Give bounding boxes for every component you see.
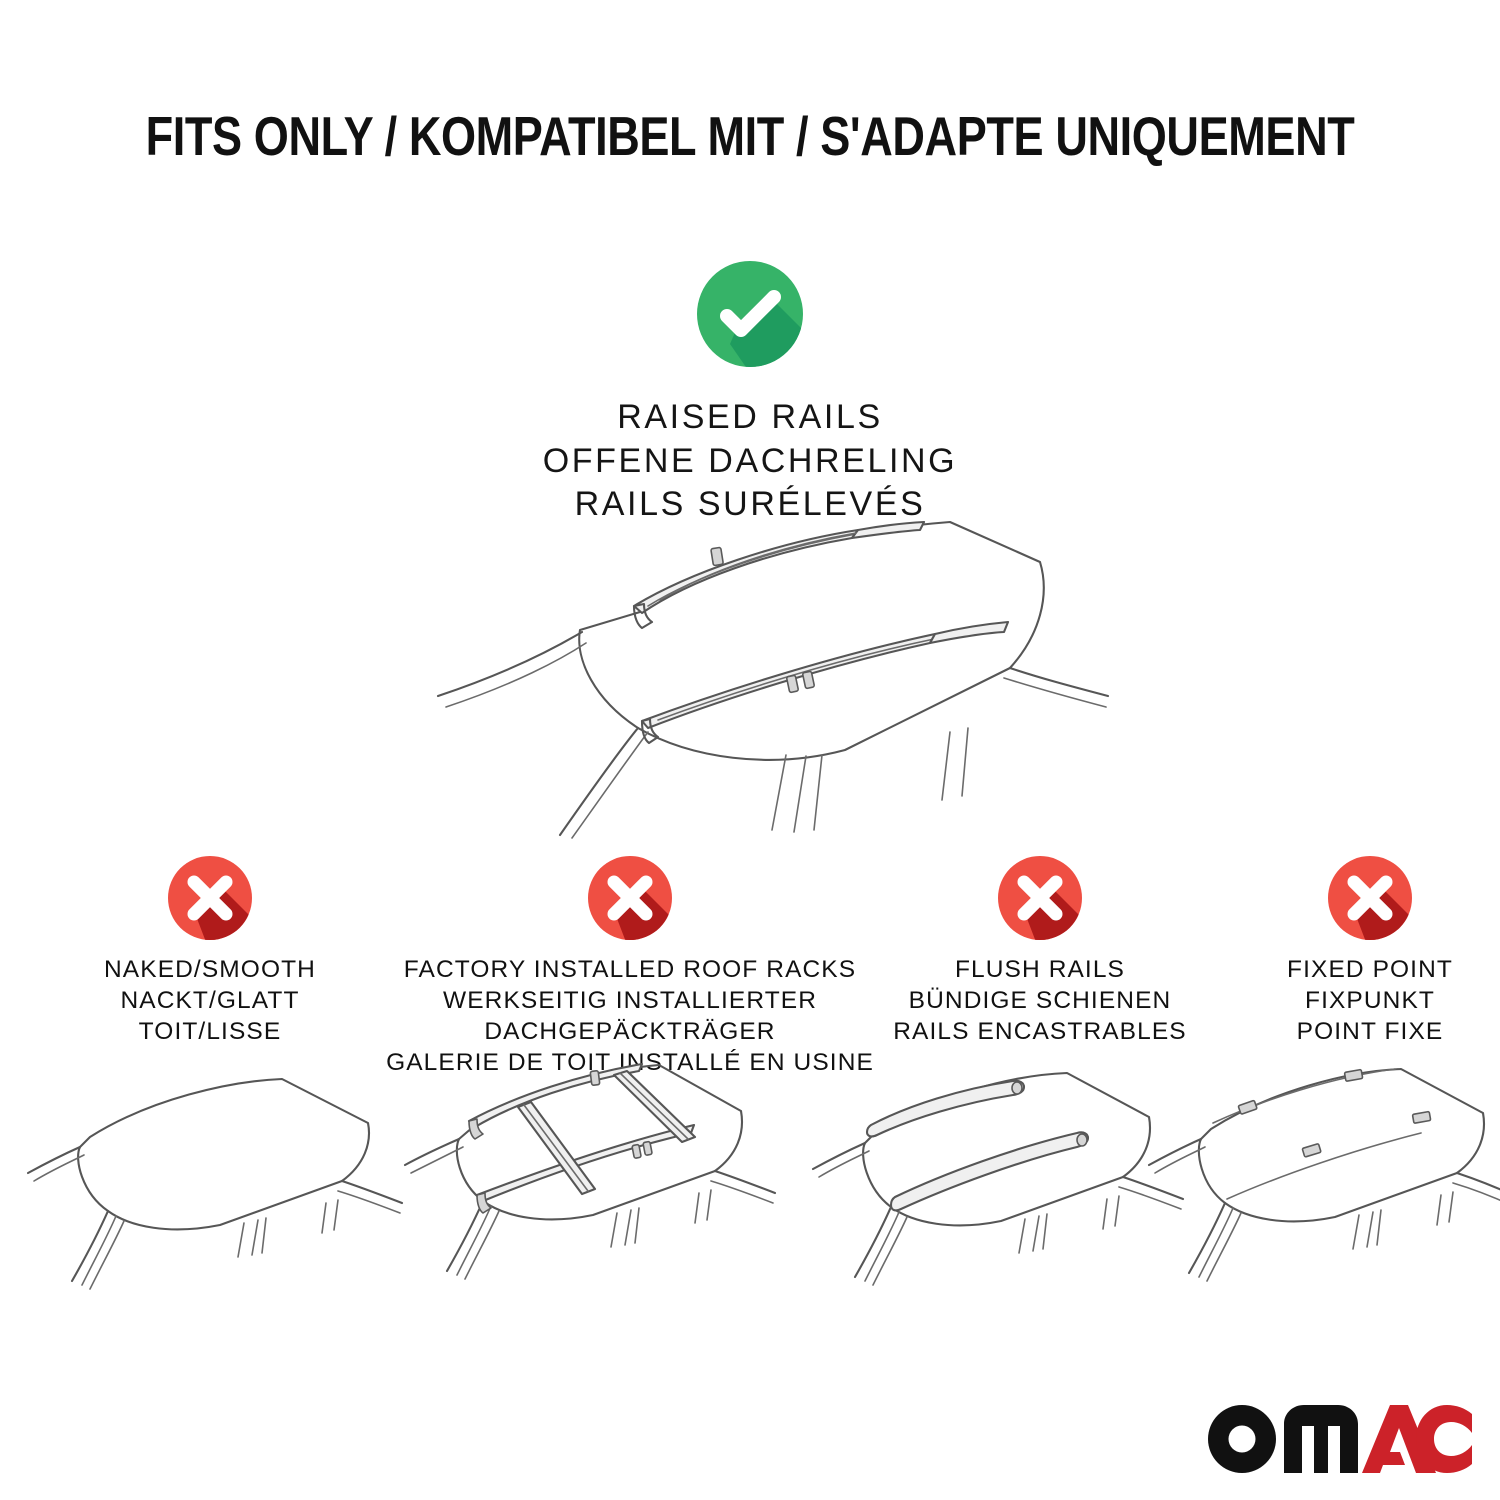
label-line-fr: POINT FIXE — [1287, 1016, 1453, 1047]
fitment-infographic: FITS ONLY / KOMPATIBEL MIT / S'ADAPTE UN… — [0, 0, 1500, 1500]
incompatible-column-factory-roof-racks: FACTORY INSTALLED ROOF RACKS WERKSEITIG … — [420, 854, 840, 1078]
incompatible-label-fixed-point: FIXED POINT FIXPUNKT POINT FIXE — [1287, 954, 1453, 1047]
label-line-en: FACTORY INSTALLED ROOF RACKS — [386, 954, 874, 985]
omac-logo — [1204, 1400, 1472, 1478]
incompatible-label-naked-smooth: NAKED/SMOOTH NACKT/GLATT TOIT/LISSE — [104, 954, 316, 1047]
label-line-de-1: WERKSEITIG INSTALLIERTER — [386, 985, 874, 1016]
incompatible-column-fixed-point: FIXED POINT FIXPUNKT POINT FIXE — [1240, 854, 1500, 1078]
compatible-block: RAISED RAILS OFFENE DACHRELING RAILS SUR… — [0, 258, 1500, 527]
compatible-label-line-de: OFFENE DACHRELING — [0, 440, 1500, 484]
label-line-en: FIXED POINT — [1287, 954, 1453, 985]
label-line-de-2: DACHGEPÄCKTRÄGER — [386, 1016, 874, 1047]
incompatible-label-flush-rails: FLUSH RAILS BÜNDIGE SCHIENEN RAILS ENCAS… — [893, 954, 1186, 1047]
label-line-en: NAKED/SMOOTH — [104, 954, 316, 985]
incompatible-column-naked-smooth: NAKED/SMOOTH NACKT/GLATT TOIT/LISSE — [0, 854, 420, 1078]
incompatible-columns: NAKED/SMOOTH NACKT/GLATT TOIT/LISSE FACT… — [0, 854, 1500, 1078]
compatible-label-line-en: RAISED RAILS — [0, 396, 1500, 440]
illustration-flush-rails — [805, 1055, 1195, 1320]
label-line-fr: RAILS ENCASTRABLES — [893, 1016, 1186, 1047]
label-line-de: NACKT/GLATT — [104, 985, 316, 1016]
x-circle-icon — [996, 854, 1084, 942]
illustration-raised-rails — [390, 500, 1110, 840]
x-circle-icon — [166, 854, 254, 942]
label-line-fr: TOIT/LISSE — [104, 1016, 316, 1047]
x-circle-icon — [586, 854, 674, 942]
illustration-fixed-point — [1145, 1055, 1500, 1320]
label-line-de: BÜNDIGE SCHIENEN — [893, 985, 1186, 1016]
x-circle-icon — [1326, 854, 1414, 942]
page-title: FITS ONLY / KOMPATIBEL MIT / S'ADAPTE UN… — [135, 104, 1365, 168]
illustration-factory-roof-racks — [395, 1055, 785, 1320]
label-line-en: FLUSH RAILS — [893, 954, 1186, 985]
logo-letter-m — [1284, 1405, 1358, 1473]
incompatible-column-flush-rails: FLUSH RAILS BÜNDIGE SCHIENEN RAILS ENCAS… — [840, 854, 1240, 1078]
illustration-naked-smooth — [20, 1055, 410, 1320]
check-circle-icon — [694, 258, 806, 370]
label-line-de: FIXPUNKT — [1287, 985, 1453, 1016]
